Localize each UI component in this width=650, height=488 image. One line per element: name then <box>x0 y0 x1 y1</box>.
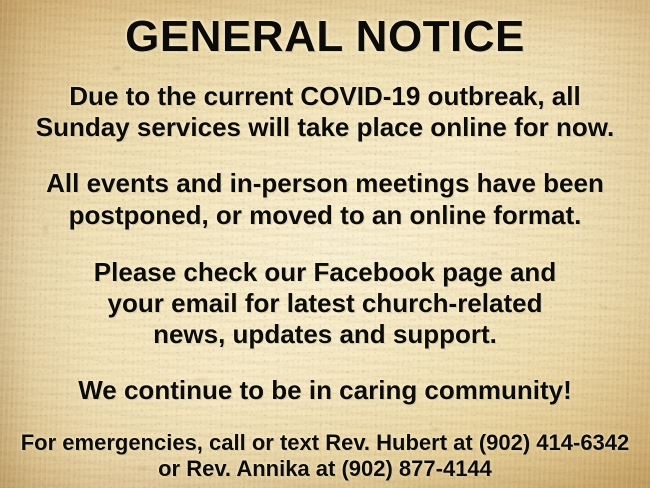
text-line: news, updates and support. <box>8 319 642 350</box>
text-line: Please check our Facebook page and <box>8 257 642 288</box>
page-title: GENERAL NOTICE <box>8 15 642 59</box>
emergency-contact-annika: or Rev. Annika at (902) 877-4144 <box>8 456 642 483</box>
paragraph-facebook-email: Please check our Facebook page and your … <box>8 257 642 351</box>
text-line: postponed, or moved to an online format. <box>8 200 642 231</box>
text-line: Due to the current COVID-19 outbreak, al… <box>8 81 642 112</box>
paragraph-covid-services: Due to the current COVID-19 outbreak, al… <box>8 81 642 143</box>
paragraph-events-postponed: All events and in-person meetings have b… <box>8 168 642 230</box>
general-notice-poster: GENERAL NOTICE Due to the current COVID-… <box>0 0 650 488</box>
paragraph-emergency-contacts: For emergencies, call or text Rev. Huber… <box>8 430 642 484</box>
paragraph-caring-community: We continue to be in caring community! <box>8 375 642 406</box>
text-line: All events and in-person meetings have b… <box>8 168 642 199</box>
text-line: Sunday services will take place online f… <box>8 112 642 143</box>
text-line: We continue to be in caring community! <box>8 375 642 406</box>
text-line: your email for latest church-related <box>8 288 642 319</box>
emergency-contact-hubert: For emergencies, call or text Rev. Huber… <box>8 430 642 457</box>
notice-content: GENERAL NOTICE Due to the current COVID-… <box>0 0 650 488</box>
